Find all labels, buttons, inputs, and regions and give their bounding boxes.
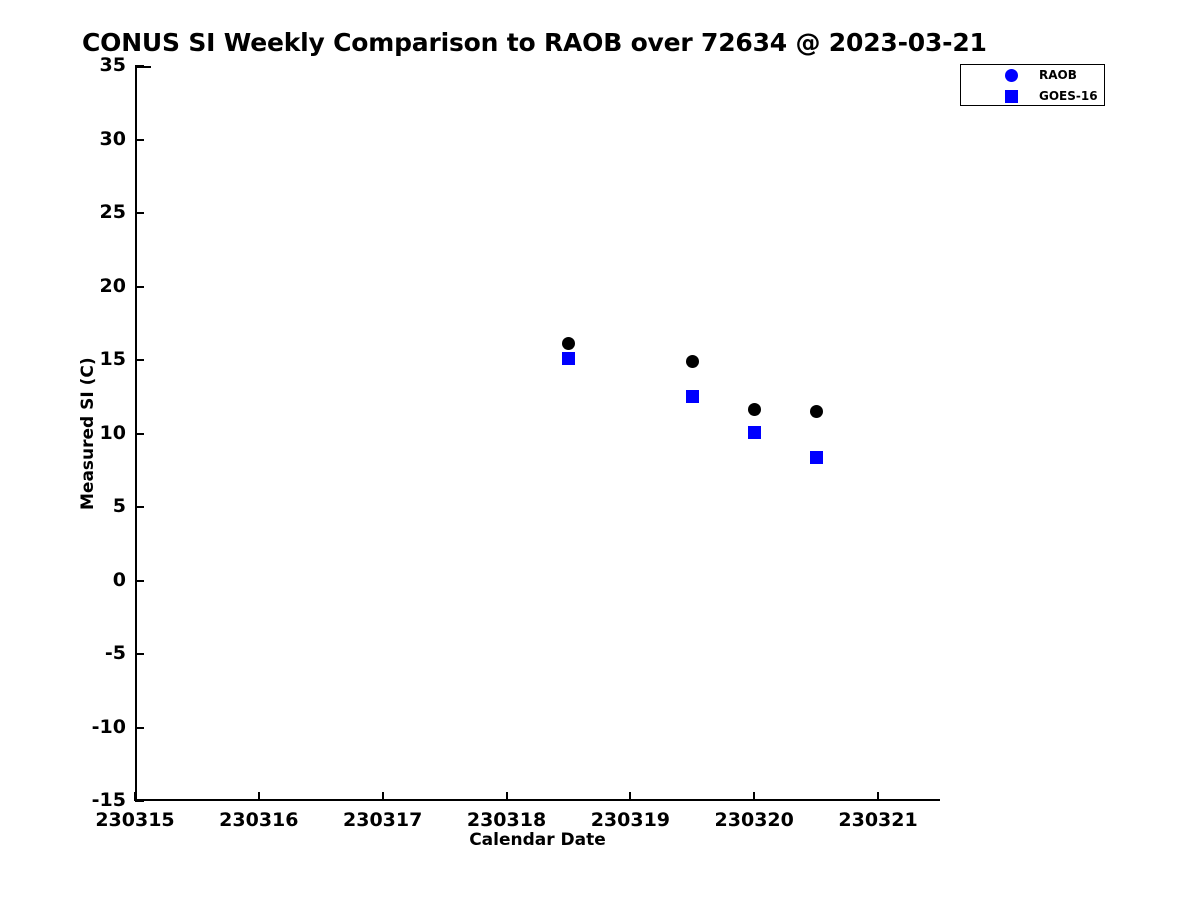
x-axis-tick-label: 230317	[323, 809, 443, 831]
y-axis-tick-label: -10	[40, 716, 126, 738]
x-axis-tick	[877, 792, 879, 801]
y-axis-tick	[135, 727, 144, 729]
x-axis-tick-label: 230320	[694, 809, 814, 831]
y-axis-tick-label: -5	[40, 642, 126, 664]
data-point-goes-16	[686, 390, 699, 403]
y-axis-tick	[135, 800, 144, 802]
chart-legend: RAOBGOES-16	[960, 64, 1105, 106]
chart-title: CONUS SI Weekly Comparison to RAOB over …	[82, 28, 987, 57]
y-axis-tick-label: 0	[40, 569, 126, 591]
x-axis-tick	[134, 792, 136, 801]
x-axis-tick	[506, 792, 508, 801]
legend-circle-icon	[1005, 69, 1018, 82]
y-axis-tick	[135, 506, 144, 508]
plot-area	[135, 66, 940, 801]
chart-figure: CONUS SI Weekly Comparison to RAOB over …	[0, 0, 1200, 900]
x-axis-tick	[753, 792, 755, 801]
y-axis-tick	[135, 359, 144, 361]
legend-item[interactable]: RAOB	[961, 65, 1106, 86]
x-axis-tick	[629, 792, 631, 801]
x-axis-tick-label: 230318	[447, 809, 567, 831]
legend-item-label: GOES-16	[1039, 89, 1098, 103]
y-axis-tick	[135, 653, 144, 655]
y-axis-tick	[135, 139, 144, 141]
data-point-goes-16	[810, 451, 823, 464]
y-axis-tick	[135, 286, 144, 288]
y-axis-label: Measured SI (C)	[78, 357, 98, 510]
y-axis-tick-label: 20	[40, 275, 126, 297]
y-axis-tick	[135, 65, 144, 67]
x-axis-tick-label: 230316	[199, 809, 319, 831]
data-point-raob	[686, 355, 699, 368]
y-axis-tick-label: 25	[40, 201, 126, 223]
data-point-goes-16	[748, 426, 761, 439]
y-axis-tick-label: 35	[40, 54, 126, 76]
y-axis-tick-label: 30	[40, 128, 126, 150]
y-axis-tick-label: -15	[40, 789, 126, 811]
y-axis-tick	[135, 212, 144, 214]
x-axis-tick	[258, 792, 260, 801]
x-axis-label: Calendar Date	[0, 830, 1075, 850]
x-axis-tick-label: 230315	[75, 809, 195, 831]
x-axis-tick-label: 230319	[570, 809, 690, 831]
x-axis-tick	[382, 792, 384, 801]
legend-square-icon	[1005, 90, 1018, 103]
y-axis-tick	[135, 580, 144, 582]
x-axis-tick-label: 230321	[818, 809, 938, 831]
legend-item[interactable]: GOES-16	[961, 86, 1106, 107]
data-point-raob	[810, 405, 823, 418]
y-axis-tick	[135, 433, 144, 435]
legend-item-label: RAOB	[1039, 68, 1077, 82]
data-point-goes-16	[562, 352, 575, 365]
